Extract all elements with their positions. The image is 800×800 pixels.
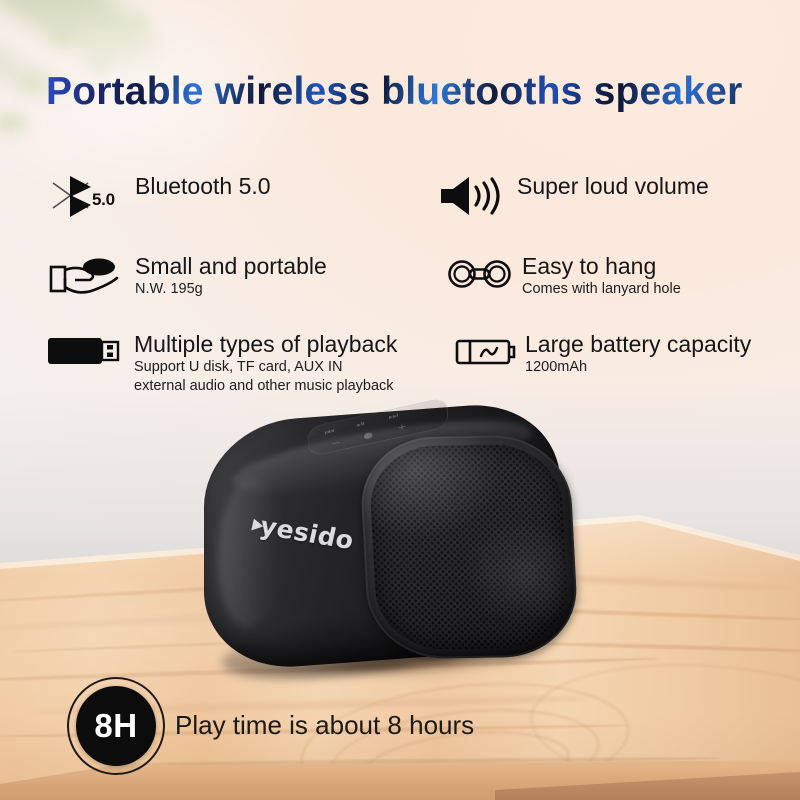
feature-sub-2: external audio and other music playback [134, 378, 397, 395]
control-play-icon[interactable]: ⏯ [356, 419, 365, 429]
feature-hang: Easy to hang Comes with lanyard hole [447, 254, 681, 299]
feature-sub: 1200mAh [525, 359, 751, 376]
feature-bluetooth: 5.0 Bluetooth 5.0 [48, 174, 271, 220]
feature-heading: Large battery capacity [525, 332, 751, 357]
control-prev-icon[interactable]: ⏮ [325, 427, 335, 437]
speaker-grille-face [358, 434, 580, 659]
playtime-badge: 8H [67, 677, 165, 775]
feature-heading: Super loud volume [517, 174, 709, 199]
control-volume-up-icon[interactable]: + [397, 422, 407, 432]
feature-sub: Comes with lanyard hole [522, 281, 681, 298]
feature-sub: N.W. 195g [135, 281, 327, 298]
playtime-badge-value: 8H [94, 707, 137, 745]
feature-playback: Multiple types of playback Support U dis… [46, 332, 397, 394]
feature-heading: Multiple types of playback [134, 332, 397, 357]
feature-portable: Small and portable N.W. 195g [48, 254, 327, 305]
feature-sub: Support U disk, TF card, AUX IN [134, 359, 397, 376]
feature-list: 5.0 Bluetooth 5.0 Super loud volume [0, 160, 800, 400]
speaker-volume-icon [437, 174, 505, 223]
feature-battery: Large battery capacity 1200mAh [455, 332, 751, 376]
speaker-face-rim [358, 434, 580, 659]
bluetooth-version-label: 5.0 [92, 190, 115, 210]
product-banner: Portable wireless bluetooths speaker 5.0… [0, 0, 800, 800]
control-volume-down-icon[interactable]: − [331, 438, 341, 448]
page-title: Portable wireless bluetooths speaker [46, 70, 766, 114]
feature-volume: Super loud volume [437, 174, 709, 223]
battery-icon [455, 332, 517, 375]
product-speaker-image: ⏮ ⏯ ⏭ − ● + yesido [196, 398, 596, 698]
speaker-side-highlight [218, 473, 282, 632]
lanyard-link-icon [447, 254, 515, 299]
hand-holding-icon [48, 254, 126, 305]
control-next-icon[interactable]: ⏭ [388, 411, 398, 421]
feature-heading: Small and portable [135, 254, 327, 279]
feature-heading: Easy to hang [522, 254, 681, 279]
playtime-badge-disc: 8H [76, 686, 156, 766]
usb-drive-icon [46, 332, 126, 375]
playtime-caption: Play time is about 8 hours [175, 710, 474, 741]
bluetooth-icon: 5.0 [48, 174, 126, 220]
feature-heading: Bluetooth 5.0 [135, 174, 271, 199]
